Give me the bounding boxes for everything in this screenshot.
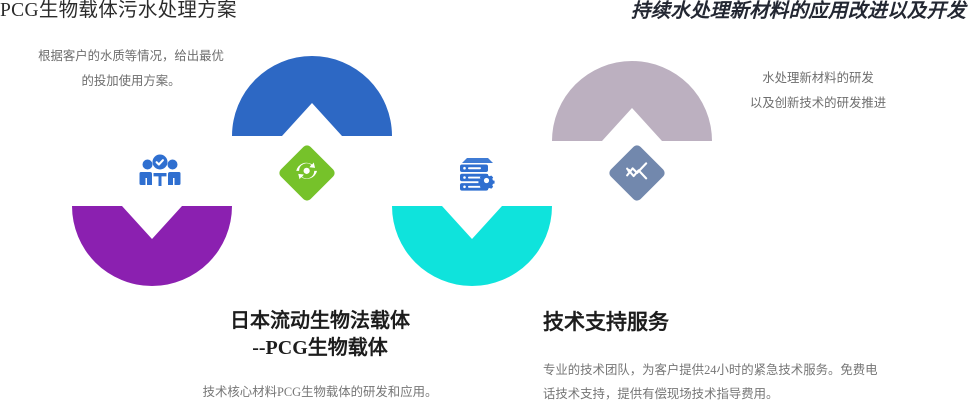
section-title-wastewater-plan: PCG生物载体污水处理方案 — [0, 0, 237, 23]
section-desc-new-material-rd: 水处理新材料的研发 以及创新技术的研发推进 — [718, 66, 918, 116]
desc-line: 话技术支持，提供有偿现场技术指导费用。 — [543, 382, 943, 406]
server-gear-icon — [456, 152, 500, 196]
section-title-tech-support: 技术支持服务 — [543, 309, 669, 335]
recycle-icon-tile — [277, 143, 336, 202]
shape-bowl-tech-support — [392, 206, 552, 289]
dome-path — [232, 56, 392, 136]
trend-chart-icon-tile — [607, 143, 666, 202]
shape-dome-wastewater-plan — [232, 53, 392, 136]
bowl-path — [72, 206, 232, 286]
section-desc-tech-support: 专业的技术团队，为客户提供24小时的紧急技术服务。免费电 话技术支持，提供有偿现… — [543, 358, 943, 406]
section-title-bio-carrier: 日本流动生物法载体 --PCG生物载体 — [200, 308, 440, 362]
title-line: --PCG生物载体 — [200, 335, 440, 362]
trend-chart-icon — [625, 159, 649, 188]
desc-line: 以及创新技术的研发推进 — [718, 91, 918, 116]
desc-line: 的投加使用方案。 — [18, 69, 244, 94]
section-desc-bio-carrier: 技术核心材料PCG生物载体的研发和应用。 — [150, 380, 490, 405]
desc-line: 根据客户的水质等情况，给出最优 — [18, 44, 244, 69]
desc-line: 专业的技术团队，为客户提供24小时的紧急技术服务。免费电 — [543, 358, 943, 382]
section-title-new-material-rd: 持续水处理新材料的应用改进以及开发 — [631, 0, 966, 24]
team-check-icon — [139, 152, 181, 194]
title-line: 日本流动生物法载体 — [200, 308, 440, 335]
dome-path — [552, 61, 712, 141]
bowl-path — [392, 206, 552, 286]
infographic-canvas: PCG生物载体污水处理方案 根据客户的水质等情况，给出最优 的投加使用方案。 持… — [0, 0, 976, 406]
shape-dome-new-material-rd — [552, 58, 712, 141]
shape-bowl-bio-carrier — [72, 206, 232, 289]
recycle-icon — [295, 159, 319, 188]
section-desc-wastewater-plan: 根据客户的水质等情况，给出最优 的投加使用方案。 — [18, 44, 244, 94]
desc-line: 水处理新材料的研发 — [718, 66, 918, 91]
